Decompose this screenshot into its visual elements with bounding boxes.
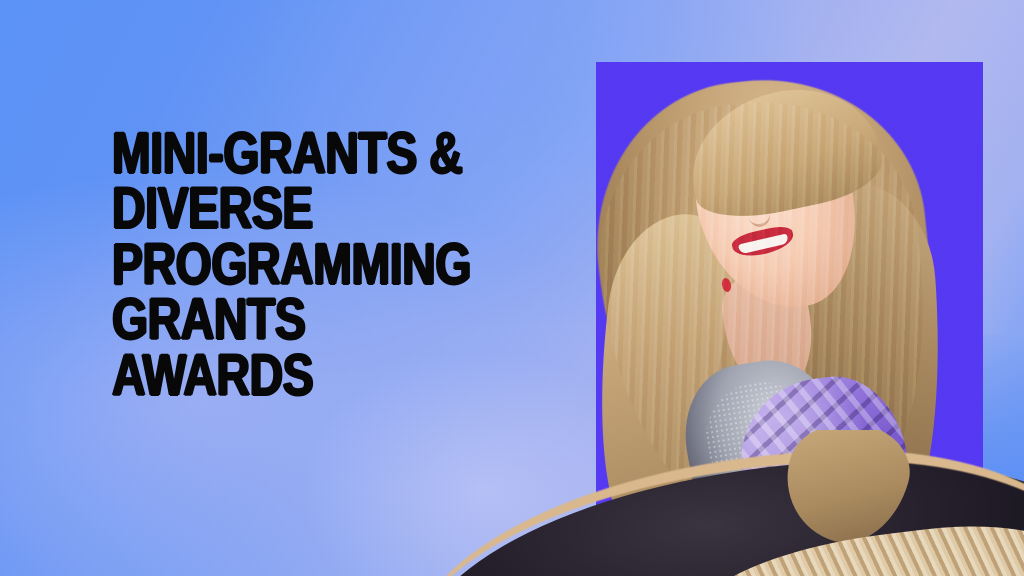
panel-grain-texture <box>596 62 983 576</box>
page-title: Mini-Grants & Diverse Programming Grants… <box>112 126 488 403</box>
promo-graphic-canvas: Mini-Grants & Diverse Programming Grants… <box>0 0 1024 576</box>
portrait-panel <box>596 62 983 576</box>
